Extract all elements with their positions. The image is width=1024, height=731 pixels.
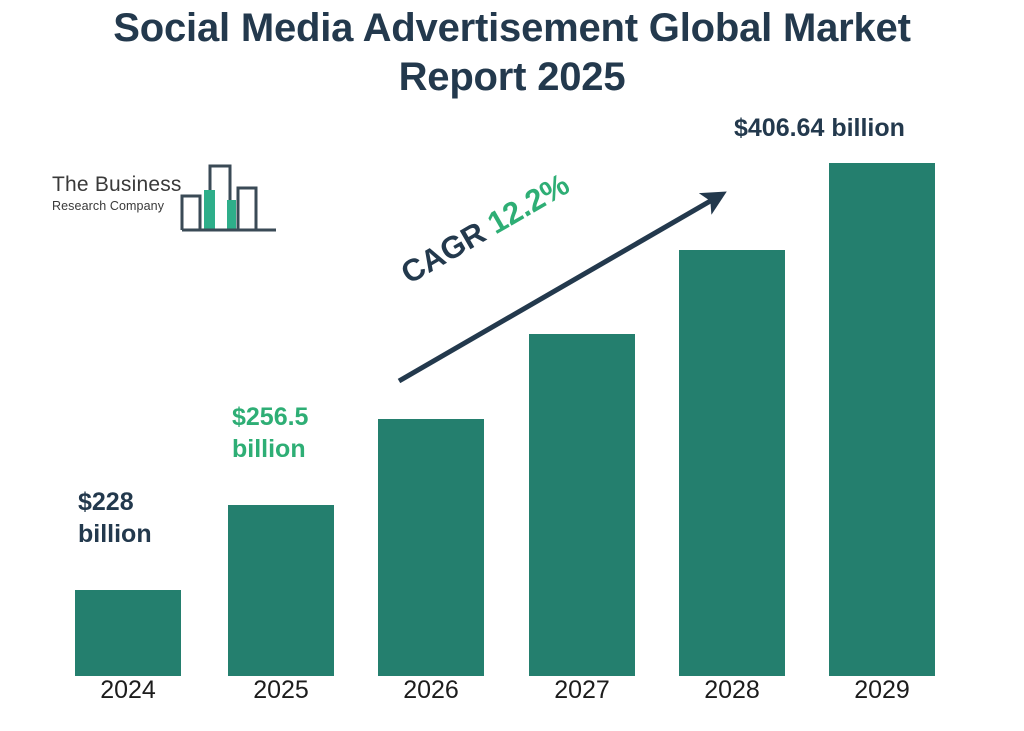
xtick-2024: 2024 [53,676,203,705]
xtick-2027: 2027 [507,676,657,705]
bar-2027 [529,334,635,676]
bar-2029 [829,163,935,676]
xtick-2029: 2029 [807,676,957,705]
bar-2028 [679,250,785,676]
chart-canvas: Social Media Advertisement Global Market… [0,0,1024,731]
bar-2026 [378,419,484,676]
bar-chart-plot: $228 billion $256.5 billion $406.64 bill… [0,0,1024,731]
bar-2025 [228,505,334,676]
data-label-2024: $228 billion [78,487,218,551]
xtick-2025: 2025 [206,676,356,705]
data-label-2025: $256.5 billion [232,402,392,466]
bar-2024 [75,590,181,676]
xtick-2028: 2028 [657,676,807,705]
data-label-2029: $406.64 billion [734,113,994,145]
xtick-2026: 2026 [356,676,506,705]
